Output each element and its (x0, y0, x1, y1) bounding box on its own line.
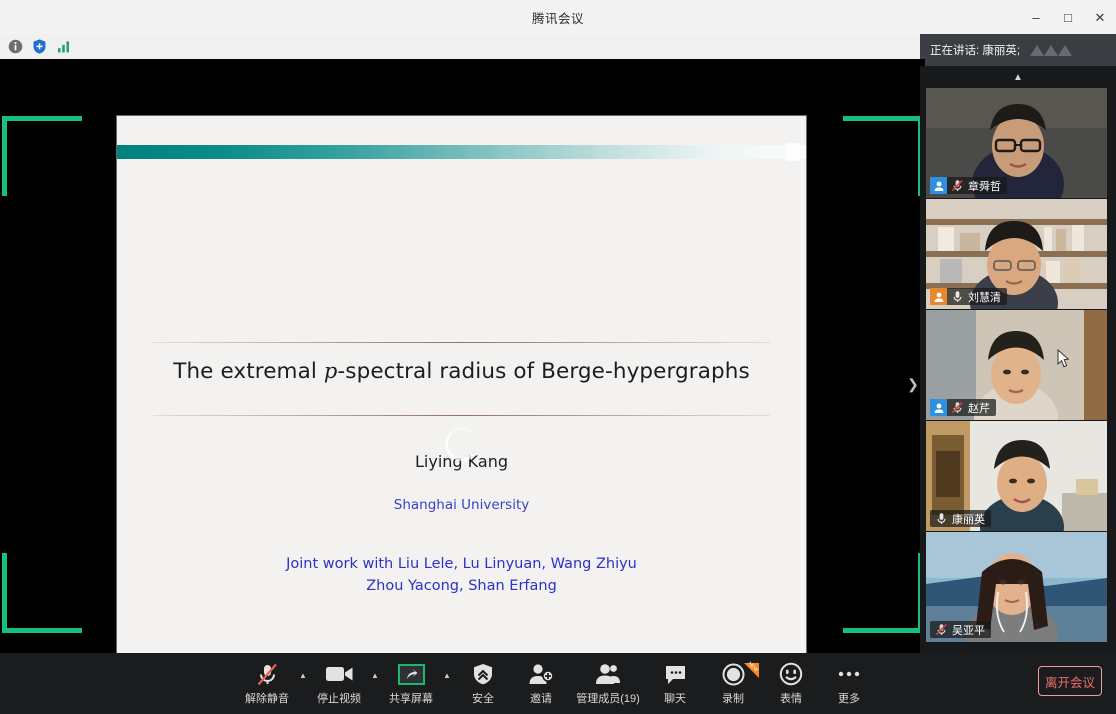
leave-meeting-button[interactable]: 离开会议 (1038, 666, 1102, 696)
toolbar-label: 邀请 (530, 690, 552, 706)
chat-bubble-icon (664, 662, 687, 687)
title-bar: 腾讯会议 – □ ✕ (0, 0, 1116, 34)
slide-joint-work: Joint work with Liu Lele, Lu Linyuan, Wa… (117, 553, 806, 597)
share-screen-icon (398, 662, 425, 687)
participant-badge: 赵芹 (930, 399, 996, 416)
stop-video-button[interactable]: 停止视频 (310, 655, 368, 713)
microphone-muted-icon (950, 400, 965, 415)
toolbar-label: 管理成员(19) (576, 690, 640, 706)
participant-tile[interactable]: 章舜哲 (926, 88, 1107, 198)
audio-wave-icon (1028, 40, 1072, 60)
minimize-button[interactable]: – (1020, 0, 1052, 34)
participant-name: 赵芹 (965, 400, 996, 416)
share-border-corner-top-left (2, 116, 82, 196)
speaking-label: 正在讲话: 康丽英; (930, 42, 1020, 58)
share-border-corner-bottom-left (2, 553, 82, 633)
participant-tiles: 章舜哲 (920, 88, 1116, 646)
network-signal-icon[interactable] (55, 38, 72, 55)
share-border-corner-bottom-right (843, 553, 923, 633)
slide-title-prefix: The extremal (173, 359, 324, 384)
microphone-icon (934, 511, 949, 526)
participant-badge: 刘慧清 (930, 288, 1007, 305)
toolbar-label: 解除静音 (245, 690, 289, 706)
microphone-muted-icon (256, 662, 279, 687)
toolbar-label: 共享屏幕 (389, 690, 433, 706)
slide-title: The extremal p-spectral radius of Berge-… (117, 359, 806, 384)
slide-title-math-p: p (324, 359, 338, 383)
unmute-button[interactable]: 解除静音 (238, 655, 296, 713)
emoji-button[interactable]: 表情 (762, 655, 820, 713)
participant-tile[interactable]: 刘慧清 (926, 199, 1107, 309)
speaking-indicator: 正在讲话: 康丽英; (920, 34, 1116, 66)
slide-divider-bottom (153, 415, 770, 416)
toolbar-buttons: 解除静音 ▲ 停止视频 ▲ (0, 653, 1116, 714)
more-button[interactable]: 更多 (820, 655, 878, 713)
video-thumbnail-panel: ▲ (920, 66, 1116, 668)
microphone-muted-icon (950, 178, 965, 193)
participant-name: 康丽英 (949, 511, 991, 527)
participant-name: 刘慧清 (965, 289, 1007, 305)
security-button[interactable]: 安全 (454, 655, 512, 713)
audio-options-caret-icon[interactable]: ▲ (296, 655, 310, 713)
share-options-caret-icon[interactable]: ▲ (440, 655, 454, 713)
share-border-corner-top-right (843, 116, 923, 196)
camera-icon (325, 662, 354, 687)
window-controls: – □ ✕ (1020, 0, 1116, 34)
mouse-cursor (1057, 349, 1069, 368)
info-icon[interactable] (7, 38, 24, 55)
presentation-slide: The extremal p-spectral radius of Berge-… (117, 116, 806, 653)
invite-person-icon (528, 662, 554, 687)
scroll-up-button[interactable]: ▲ (920, 66, 1116, 88)
member-person-icon (930, 399, 947, 416)
toolbar-label: 聊天 (664, 690, 686, 706)
window-title: 腾讯会议 (532, 8, 584, 27)
participant-badge: 章舜哲 (930, 177, 1007, 194)
participant-tile[interactable]: 赵芹 (926, 310, 1107, 420)
participant-badge: 吴亚平 (930, 621, 991, 638)
slide-joint-line-2: Zhou Yacong, Shan Erfang (117, 575, 806, 597)
microphone-icon (950, 289, 965, 304)
member-person-icon (930, 177, 947, 194)
host-person-icon (930, 288, 947, 305)
toolbar-label: 表情 (780, 690, 802, 706)
invite-button[interactable]: 邀请 (512, 655, 570, 713)
new-badge-label: NEW (747, 660, 759, 672)
meeting-toolbar: 解除静音 ▲ 停止视频 ▲ (0, 653, 1116, 714)
toolbar-label: 安全 (472, 690, 494, 706)
record-circle-icon (722, 662, 745, 687)
maximize-button[interactable]: □ (1052, 0, 1084, 34)
slide-accent-bar (117, 145, 806, 159)
participant-badge: 康丽英 (930, 510, 991, 527)
chat-button[interactable]: 聊天 (646, 655, 704, 713)
participant-name: 吴亚平 (949, 622, 991, 638)
video-options-caret-icon[interactable]: ▲ (368, 655, 382, 713)
collapse-video-panel-button[interactable]: ❯ (905, 367, 921, 401)
slide-affiliation: Shanghai University (117, 497, 806, 513)
record-button[interactable]: NEW 录制 (704, 655, 762, 713)
loading-spinner-icon (445, 427, 479, 461)
shield-icon[interactable] (31, 38, 48, 55)
emoji-smile-icon (779, 662, 803, 687)
toolbar-label: 停止视频 (317, 690, 361, 706)
slide-divider-top (153, 342, 770, 343)
participant-name: 章舜哲 (965, 178, 1007, 194)
manage-members-icon (595, 662, 621, 687)
participant-tile[interactable]: 吴亚平 (926, 532, 1107, 642)
toolbar-label: 更多 (838, 690, 860, 706)
participant-tile[interactable]: 康丽英 (926, 421, 1107, 531)
tencent-meeting-window: 腾讯会议 – □ ✕ 正在讲话: 康丽英; (0, 0, 1116, 714)
more-dots-icon (837, 662, 861, 687)
share-screen-button[interactable]: 共享屏幕 (382, 655, 440, 713)
toolbar-label: 录制 (722, 690, 744, 706)
security-shield-icon (471, 662, 495, 687)
shared-screen-stage: The extremal p-spectral radius of Berge-… (0, 59, 925, 653)
microphone-muted-icon (934, 622, 949, 637)
close-button[interactable]: ✕ (1084, 0, 1116, 34)
manage-members-button[interactable]: 管理成员(19) (570, 655, 646, 713)
slide-joint-line-1: Joint work with Liu Lele, Lu Linyuan, Wa… (117, 553, 806, 575)
slide-title-suffix: -spectral radius of Berge-hypergraphs (337, 359, 749, 384)
new-feature-badge: NEW (744, 663, 759, 678)
